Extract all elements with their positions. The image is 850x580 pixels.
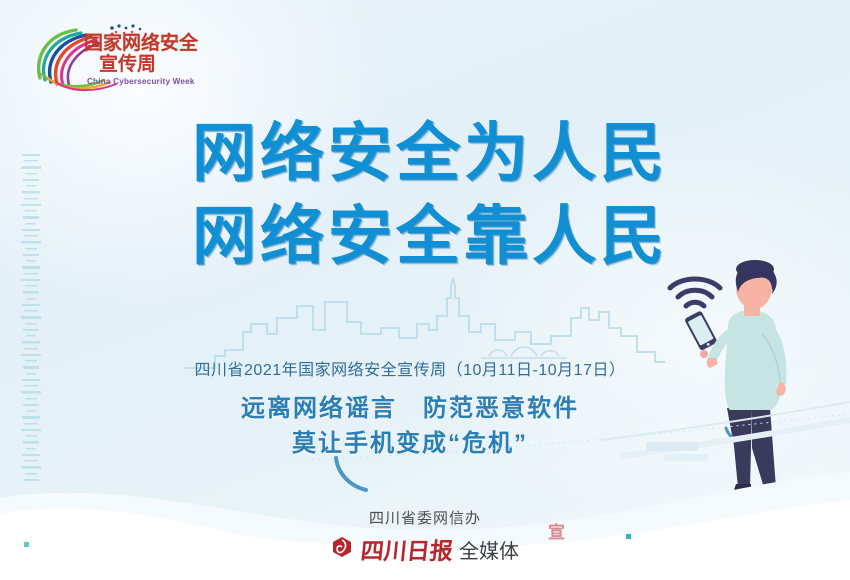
media-suffix: 全媒体 (459, 535, 519, 564)
seal-stamp: 宣 (548, 518, 565, 543)
page-title: 网络安全为人民 网络安全靠人民 (180, 112, 680, 278)
china-cybersecurity-week-logo: 国家网络安全 宣传周 China Cybersecurity Week (26, 22, 186, 94)
smartphone-icon (684, 310, 718, 351)
headline-line-1: 网络安全为人民 (180, 112, 680, 195)
logo-title-line1: 国家网络安全 (84, 34, 198, 53)
sichuan-daily-emblem-icon (331, 536, 353, 563)
event-subtitle: 四川省2021年国家网络安全宣传周（10月11日-10月17日） (150, 356, 670, 380)
wifi-signal-icon (670, 279, 720, 306)
organizer-name: 四川省委网信办 (0, 508, 850, 531)
logo-english-text: China Cybersecurity Week (87, 77, 195, 86)
media-brand-name: 四川日报 (359, 532, 455, 566)
media-logo-row: 四川日报 全媒体 宣 (331, 532, 519, 566)
footer: 四川省委网信办 四川日报 全媒体 宣 (0, 508, 850, 567)
headline-line-2: 网络安全靠人民 (180, 195, 680, 278)
cybersecurity-week-poster: 国家网络安全 宣传周 China Cybersecurity Week (0, 0, 850, 580)
logo-title-line2: 宣传周 (99, 55, 156, 74)
